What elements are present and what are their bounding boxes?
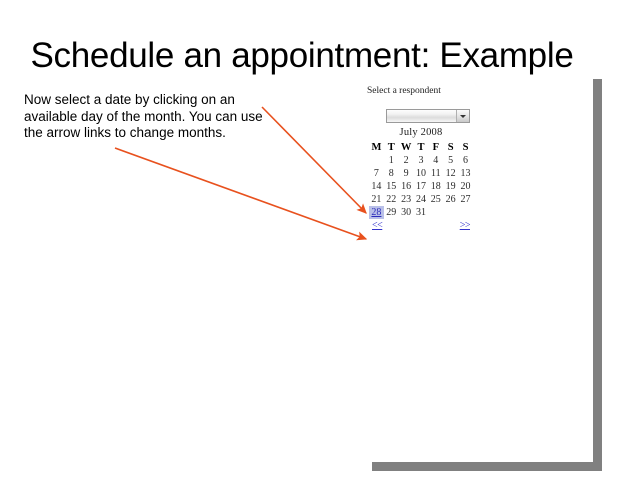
calendar-day[interactable]: 26 bbox=[443, 193, 458, 206]
calendar-day-label: 20 bbox=[461, 181, 471, 192]
calendar-day[interactable]: 27 bbox=[458, 193, 473, 206]
calendar-day-label: 11 bbox=[431, 168, 441, 179]
calendar-day-label: 27 bbox=[461, 194, 471, 205]
calendar-day-label: 15 bbox=[386, 181, 396, 192]
calendar-day-label: 14 bbox=[371, 181, 381, 192]
calendar-day[interactable]: 24 bbox=[414, 193, 429, 206]
calendar-widget: July 2008 M T W T F S S 1234567891011121… bbox=[369, 126, 473, 234]
calendar-day-label: 6 bbox=[463, 155, 468, 166]
calendar-day[interactable]: 29 bbox=[384, 206, 399, 219]
page-title: Schedule an appointment: Example bbox=[0, 36, 604, 76]
calendar-week-row: 78910111213 bbox=[369, 167, 473, 180]
calendar-day[interactable]: 22 bbox=[384, 193, 399, 206]
calendar-day-label: 4 bbox=[433, 155, 438, 166]
weekday-header: S bbox=[458, 140, 473, 154]
calendar-day-empty bbox=[428, 206, 443, 219]
calendar-day[interactable]: 15 bbox=[384, 180, 399, 193]
calendar-table: M T W T F S S 12345678910111213141516171… bbox=[369, 140, 473, 219]
calendar-body: 1234567891011121314151617181920212223242… bbox=[369, 154, 473, 219]
calendar-day-label: 5 bbox=[448, 155, 453, 166]
calendar-day-selected[interactable]: 28 bbox=[369, 206, 384, 219]
calendar-day-label: 13 bbox=[461, 168, 471, 179]
calendar-weekday-header-row: M T W T F S S bbox=[369, 140, 473, 154]
slide-shadow-bottom bbox=[372, 462, 602, 471]
calendar-day[interactable]: 25 bbox=[428, 193, 443, 206]
calendar-day[interactable]: 8 bbox=[384, 167, 399, 180]
weekday-header: S bbox=[443, 140, 458, 154]
calendar-day-label: 30 bbox=[401, 207, 411, 218]
calendar-day-label: 2 bbox=[404, 155, 409, 166]
calendar-day-label: 22 bbox=[386, 194, 396, 205]
calendar-day-empty bbox=[369, 154, 384, 167]
arrow-to-month-nav bbox=[115, 148, 366, 239]
calendar-day-label: 31 bbox=[416, 207, 426, 218]
calendar-day[interactable]: 1 bbox=[384, 154, 399, 167]
calendar-day-label: 17 bbox=[416, 181, 426, 192]
calendar-day-label: 16 bbox=[401, 181, 411, 192]
calendar-day[interactable]: 9 bbox=[399, 167, 414, 180]
calendar-day[interactable]: 30 bbox=[399, 206, 414, 219]
calendar-day[interactable]: 11 bbox=[428, 167, 443, 180]
calendar-day-label: 3 bbox=[418, 155, 423, 166]
calendar-day[interactable]: 5 bbox=[443, 154, 458, 167]
calendar-week-row: 28293031 bbox=[369, 206, 473, 219]
calendar-day[interactable]: 4 bbox=[428, 154, 443, 167]
calendar-day[interactable]: 20 bbox=[458, 180, 473, 193]
slide-canvas: Schedule an appointment: Example Now sel… bbox=[0, 0, 640, 480]
calendar-day-label: 1 bbox=[389, 155, 394, 166]
calendar-day[interactable]: 10 bbox=[414, 167, 429, 180]
calendar-day-label: 23 bbox=[401, 194, 411, 205]
slide-shadow-right bbox=[593, 79, 602, 463]
respondent-label: Select a respondent bbox=[367, 86, 441, 96]
calendar-day[interactable]: 19 bbox=[443, 180, 458, 193]
calendar-day[interactable]: 2 bbox=[399, 154, 414, 167]
weekday-header: T bbox=[414, 140, 429, 154]
weekday-header: F bbox=[428, 140, 443, 154]
calendar-day[interactable]: 7 bbox=[369, 167, 384, 180]
calendar-day[interactable]: 17 bbox=[414, 180, 429, 193]
calendar-day[interactable]: 23 bbox=[399, 193, 414, 206]
calendar-day[interactable]: 3 bbox=[414, 154, 429, 167]
calendar-nav: << >> bbox=[369, 220, 473, 234]
calendar-week-row: 21222324252627 bbox=[369, 193, 473, 206]
calendar-day-label: 12 bbox=[446, 168, 456, 179]
calendar-day[interactable]: 21 bbox=[369, 193, 384, 206]
calendar-day-label: 25 bbox=[431, 194, 441, 205]
calendar-day-label: 9 bbox=[404, 168, 409, 179]
calendar-day-label: 8 bbox=[389, 168, 394, 179]
calendar-day[interactable]: 16 bbox=[399, 180, 414, 193]
calendar-day-label: 24 bbox=[416, 194, 426, 205]
calendar-day[interactable]: 6 bbox=[458, 154, 473, 167]
calendar-day-empty bbox=[443, 206, 458, 219]
instruction-text: Now select a date by clicking on an avai… bbox=[24, 92, 272, 142]
calendar-day-label: 7 bbox=[374, 168, 379, 179]
calendar-day-label: 29 bbox=[386, 207, 396, 218]
respondent-select[interactable] bbox=[386, 109, 470, 123]
appointment-widget-screenshot: Select a respondent July 2008 M T W T F … bbox=[365, 86, 485, 251]
calendar-month-caption: July 2008 bbox=[369, 126, 473, 139]
calendar-day-empty bbox=[458, 206, 473, 219]
calendar-day[interactable]: 31 bbox=[414, 206, 429, 219]
calendar-day[interactable]: 18 bbox=[428, 180, 443, 193]
weekday-header: T bbox=[384, 140, 399, 154]
calendar-next-month-link[interactable]: >> bbox=[460, 220, 470, 231]
calendar-day-label: 26 bbox=[446, 194, 456, 205]
calendar-day-label: 21 bbox=[371, 194, 381, 205]
calendar-prev-month-link[interactable]: << bbox=[372, 220, 382, 231]
calendar-week-row: 14151617181920 bbox=[369, 180, 473, 193]
arrow-to-selected-day bbox=[262, 107, 366, 213]
calendar-day[interactable]: 13 bbox=[458, 167, 473, 180]
calendar-day-label: 10 bbox=[416, 168, 426, 179]
calendar-day-label: 19 bbox=[446, 181, 456, 192]
calendar-day-label: 28 bbox=[371, 207, 381, 218]
calendar-week-row: 123456 bbox=[369, 154, 473, 167]
calendar-day[interactable]: 14 bbox=[369, 180, 384, 193]
chevron-down-icon[interactable] bbox=[456, 110, 469, 122]
calendar-day-label: 18 bbox=[431, 181, 441, 192]
weekday-header: M bbox=[369, 140, 384, 154]
calendar-day[interactable]: 12 bbox=[443, 167, 458, 180]
weekday-header: W bbox=[399, 140, 414, 154]
